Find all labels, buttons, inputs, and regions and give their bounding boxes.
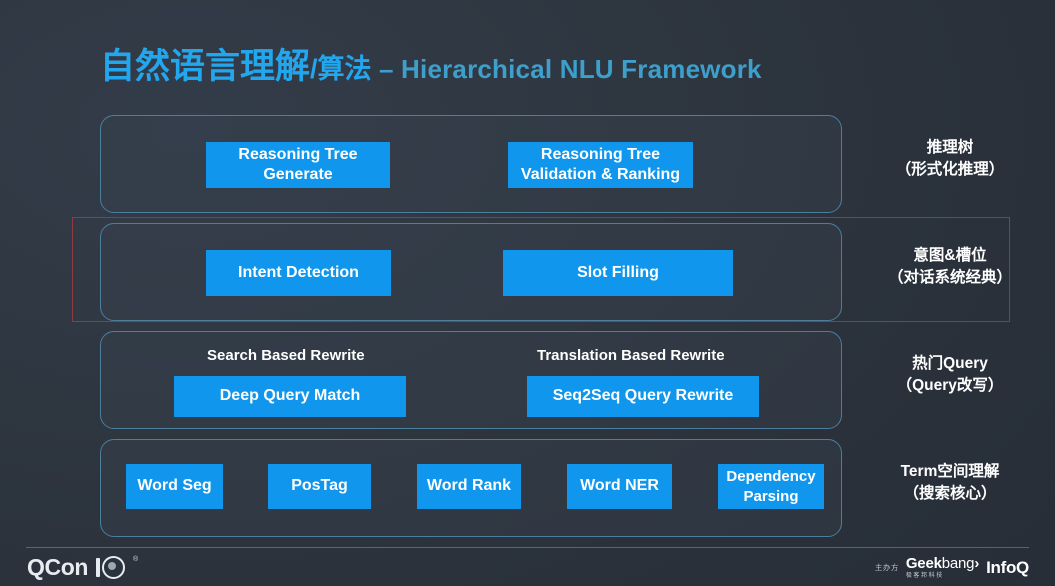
row-label-line1: 意图&槽位 — [858, 245, 1042, 267]
box-label: Reasoning TreeGenerate — [238, 145, 357, 186]
qcon-bar-icon — [96, 558, 100, 577]
row-label-intent-slot: 意图&槽位 （对话系统经典） — [858, 245, 1042, 289]
box-label: Word Seg — [137, 476, 211, 496]
caption-translation-based-rewrite: Translation Based Rewrite — [537, 347, 725, 364]
box-reasoning-tree-validation[interactable]: Reasoning TreeValidation & Ranking — [508, 142, 693, 188]
box-slot-filling[interactable]: Slot Filling — [503, 250, 733, 296]
caption-search-based-rewrite: Search Based Rewrite — [207, 347, 365, 364]
title-english: – Hierarchical NLU Framework — [372, 54, 762, 84]
box-word-rank[interactable]: Word Rank — [417, 464, 521, 509]
row-label-line2: （搜索核心） — [858, 483, 1042, 505]
box-label-line1: Dependency — [726, 468, 815, 485]
box-label: Deep Query Match — [220, 386, 360, 406]
box-label: Seq2Seq Query Rewrite — [553, 386, 734, 406]
box-seq2seq-query-rewrite[interactable]: Seq2Seq Query Rewrite — [527, 376, 759, 417]
title-chinese-sub: /算法 — [310, 54, 372, 84]
box-pos-tag[interactable]: PosTag — [268, 464, 371, 509]
qcon-trademark: ® — [133, 556, 138, 563]
sponsor-logos: 主办方 Geekbang› 极客邦科技 InfoQ — [875, 556, 1029, 579]
box-label-line2: Generate — [263, 166, 332, 183]
slide-canvas: 自然语言理解/算法 – Hierarchical NLU Framework R… — [0, 0, 1055, 586]
footer-divider — [26, 547, 1029, 548]
box-label: Word NER — [580, 476, 659, 496]
row-label-line2: （对话系统经典） — [858, 267, 1042, 289]
row-label-line1: Term空间理解 — [858, 461, 1042, 483]
box-word-ner[interactable]: Word NER — [567, 464, 672, 509]
box-dependency-parsing[interactable]: DependencyParsing — [718, 464, 824, 509]
box-label-line1: Reasoning Tree — [238, 146, 357, 163]
qcon-logo: QCon ® — [27, 554, 138, 581]
row-label-line1: 热门Query — [858, 353, 1042, 375]
qcon-ring-icon — [102, 556, 125, 579]
box-label-line2: Validation & Ranking — [521, 166, 680, 183]
row-label-line2: （Query改写） — [858, 375, 1042, 397]
box-label: Reasoning TreeValidation & Ranking — [521, 145, 680, 186]
box-label: PosTag — [291, 476, 348, 496]
box-label-line1: Reasoning Tree — [541, 146, 660, 163]
geekbang-arrow-icon: › — [974, 555, 979, 572]
box-label: Word Rank — [427, 476, 511, 496]
box-deep-query-match[interactable]: Deep Query Match — [174, 376, 406, 417]
box-label-line2: Parsing — [743, 488, 798, 505]
box-label: DependencyParsing — [726, 467, 815, 505]
row-label-term-space: Term空间理解 （搜索核心） — [858, 461, 1042, 505]
geekbang-bold: Geek — [906, 555, 942, 572]
row-label-line1: 推理树 — [858, 137, 1042, 159]
infoq-logo: InfoQ — [986, 558, 1029, 578]
box-label: Intent Detection — [238, 263, 359, 283]
box-reasoning-tree-generate[interactable]: Reasoning TreeGenerate — [206, 142, 390, 188]
box-word-seg[interactable]: Word Seg — [126, 464, 223, 509]
row-label-line2: （形式化推理） — [858, 159, 1042, 181]
qcon-wordmark: QCon — [27, 554, 88, 581]
geekbang-light: bang — [942, 555, 975, 572]
row-label-reasoning-tree: 推理树 （形式化推理） — [858, 137, 1042, 181]
box-intent-detection[interactable]: Intent Detection — [206, 250, 391, 296]
organizer-label: 主办方 — [875, 564, 899, 572]
page-title: 自然语言理解/算法 – Hierarchical NLU Framework — [100, 38, 762, 89]
title-chinese-main: 自然语言理解 — [100, 47, 310, 86]
qcon-io-mark-icon — [96, 556, 125, 579]
geekbang-subtitle: 极客邦科技 — [906, 573, 944, 579]
row-label-hot-query: 热门Query （Query改写） — [858, 353, 1042, 397]
geekbang-wordmark: Geekbang› — [906, 556, 979, 571]
box-label: Slot Filling — [577, 263, 659, 283]
geekbang-logo: Geekbang› 极客邦科技 — [906, 556, 979, 579]
